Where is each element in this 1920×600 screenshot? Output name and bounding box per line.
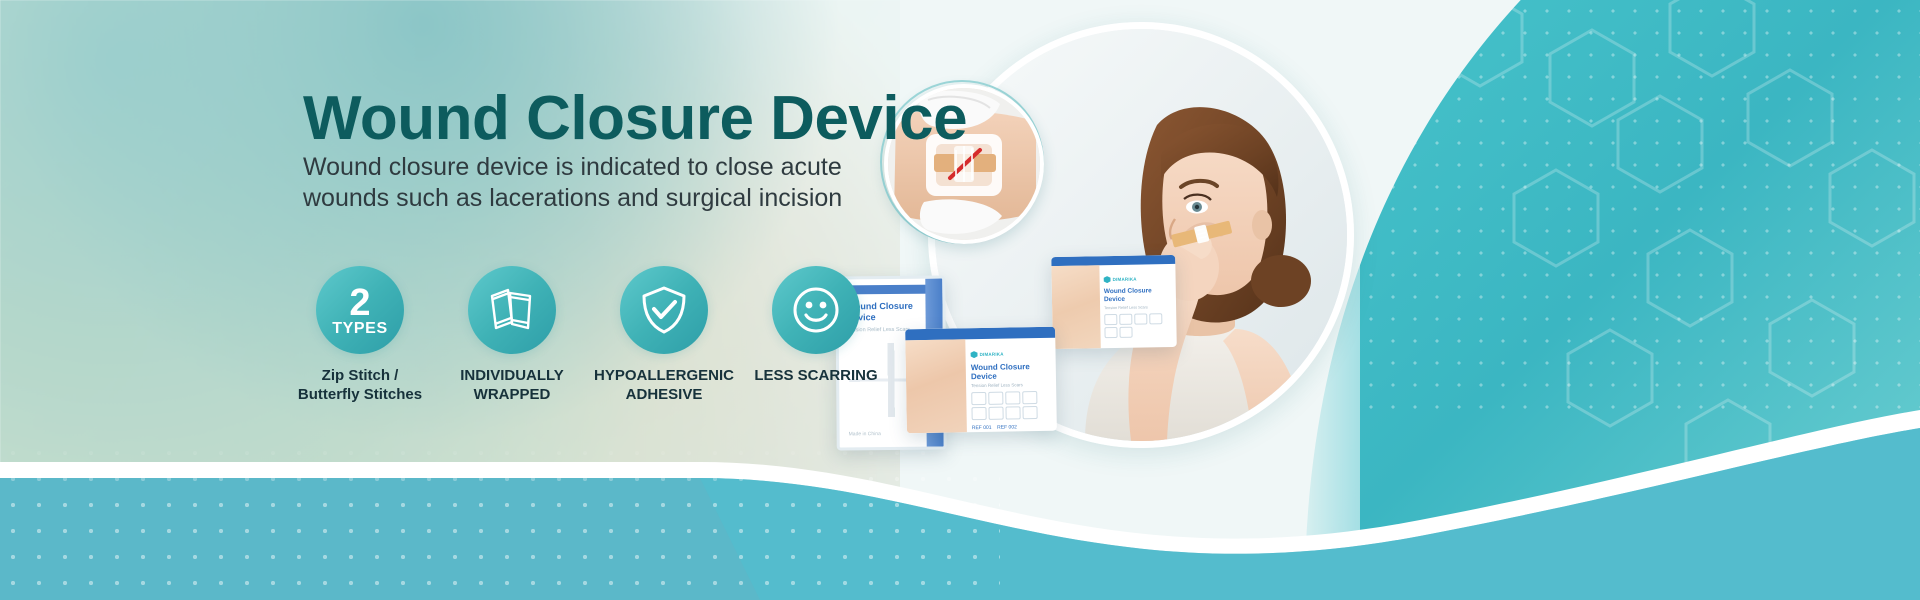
page-title: Wound Closure Device <box>303 83 967 154</box>
smiley-glyph <box>790 284 842 336</box>
shield-check-icon <box>620 266 708 354</box>
feature-caption-line1: INDIVIDUALLY <box>460 366 564 385</box>
brand-logo: DIMARIKA <box>1104 276 1137 284</box>
two-types-icon: 2 TYPES <box>316 266 404 354</box>
feature-caption: INDIVIDUALLY WRAPPED <box>460 366 564 404</box>
feature-caption-line2: ADHESIVE <box>594 385 734 404</box>
box-photo <box>1051 265 1100 349</box>
feature-caption-line1: HYPOALLERGENIC <box>594 366 734 385</box>
brand-hex-icon <box>1104 276 1111 283</box>
product-box-third: DIMARIKA Wound Closure Device Tension Re… <box>1051 255 1177 349</box>
page-subtitle: Wound closure device is indicated to clo… <box>303 152 843 214</box>
feature-item-less-scarring: LESS SCARRING <box>751 266 881 385</box>
feature-caption: Zip Stitch / Butterfly Stitches <box>298 366 422 404</box>
brand-hex-icon <box>970 351 977 358</box>
feature-list: 2 TYPES Zip Stitch / Butterfly Stitches <box>295 266 881 404</box>
sachet-packets-icon <box>468 266 556 354</box>
box-title: Wound Closure Device <box>1104 287 1172 304</box>
box-tagline: Tension Relief Less Scars <box>1104 305 1172 310</box>
feature-caption: HYPOALLERGENIC ADHESIVE <box>594 366 734 404</box>
feature-caption: LESS SCARRING <box>754 366 877 385</box>
feature-item-individually-wrapped: INDIVIDUALLY WRAPPED <box>447 266 577 404</box>
feature-caption-line2: WRAPPED <box>460 385 564 404</box>
feature-caption-line2: Butterfly Stitches <box>298 385 422 404</box>
types-label: TYPES <box>332 320 387 338</box>
brand-name: DIMARIKA <box>980 352 1004 357</box>
feature-item-hypoallergenic: HYPOALLERGENIC ADHESIVE <box>599 266 729 404</box>
packets-glyph <box>486 284 538 336</box>
brand-name: DIMARIKA <box>1113 277 1137 282</box>
wave-dot-pattern <box>0 440 1000 600</box>
types-number: 2 <box>349 286 370 320</box>
product-banner: Wound Closure Device Tension Relief Less… <box>0 0 1920 600</box>
brand-logo: DIMARIKA <box>970 351 1003 359</box>
box-icon-grid <box>1104 313 1172 338</box>
smiley-face-icon <box>772 266 860 354</box>
feature-caption-line1: Zip Stitch / <box>298 366 422 385</box>
feature-caption-line1: LESS SCARRING <box>754 366 877 385</box>
shield-glyph <box>639 284 689 336</box>
feature-item-types: 2 TYPES Zip Stitch / Butterfly Stitches <box>295 266 425 404</box>
